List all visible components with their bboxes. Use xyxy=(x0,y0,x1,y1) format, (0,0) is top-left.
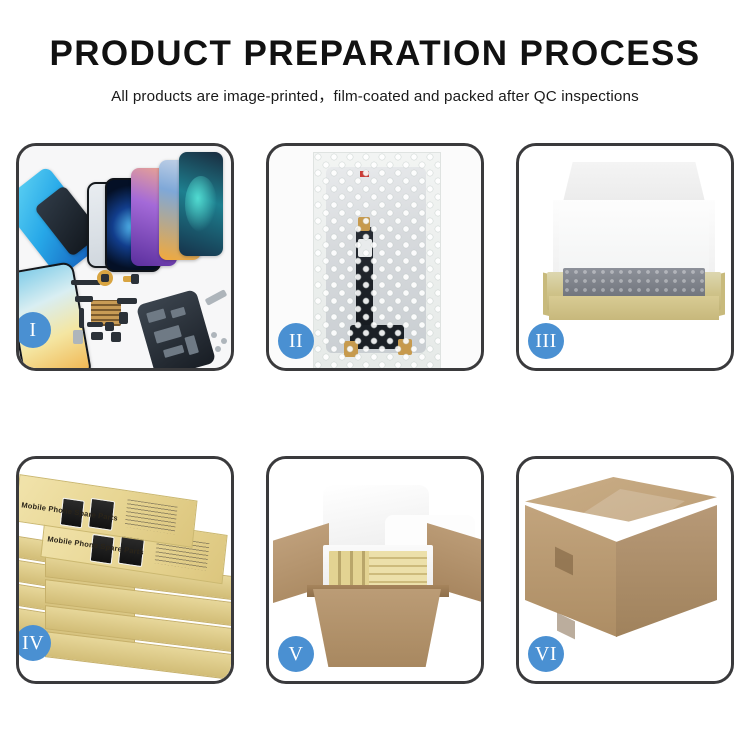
kraft-tray-front xyxy=(549,296,719,320)
step-badge-4: IV xyxy=(16,625,51,661)
carton-body xyxy=(313,589,441,667)
page-subtitle: All products are image-printed，film-coat… xyxy=(0,73,750,106)
header: PRODUCT PREPARATION PROCESS All products… xyxy=(0,0,750,106)
process-step-panel-3: III xyxy=(516,143,734,371)
teal-wave-phone xyxy=(179,152,223,256)
process-step-panel-2: II xyxy=(266,143,484,371)
bubble-texture xyxy=(314,153,440,368)
photo-stacked-retail-boxes: Mobile Phone Spare Parts Mobile Phone Sp… xyxy=(19,459,231,681)
process-step-panel-4: Mobile Phone Spare Parts Mobile Phone Sp… xyxy=(16,456,234,684)
bubble-wrap-bag xyxy=(313,152,441,368)
foam-lid xyxy=(323,485,429,547)
process-step-panel-5: V xyxy=(266,456,484,684)
process-panel-grid: I II xyxy=(16,143,734,688)
process-step-panel-6: VI xyxy=(516,456,734,684)
step-badge-5: V xyxy=(278,636,314,672)
foam-liner xyxy=(559,206,709,274)
photo-raw-components xyxy=(19,146,231,368)
page-title: PRODUCT PREPARATION PROCESS xyxy=(0,0,750,73)
step-badge-2: II xyxy=(278,323,314,359)
step-badge-6: VI xyxy=(528,636,564,672)
step-badge-1: I xyxy=(16,312,51,348)
step-badge-3: III xyxy=(528,323,564,359)
process-step-panel-1: I xyxy=(16,143,234,371)
